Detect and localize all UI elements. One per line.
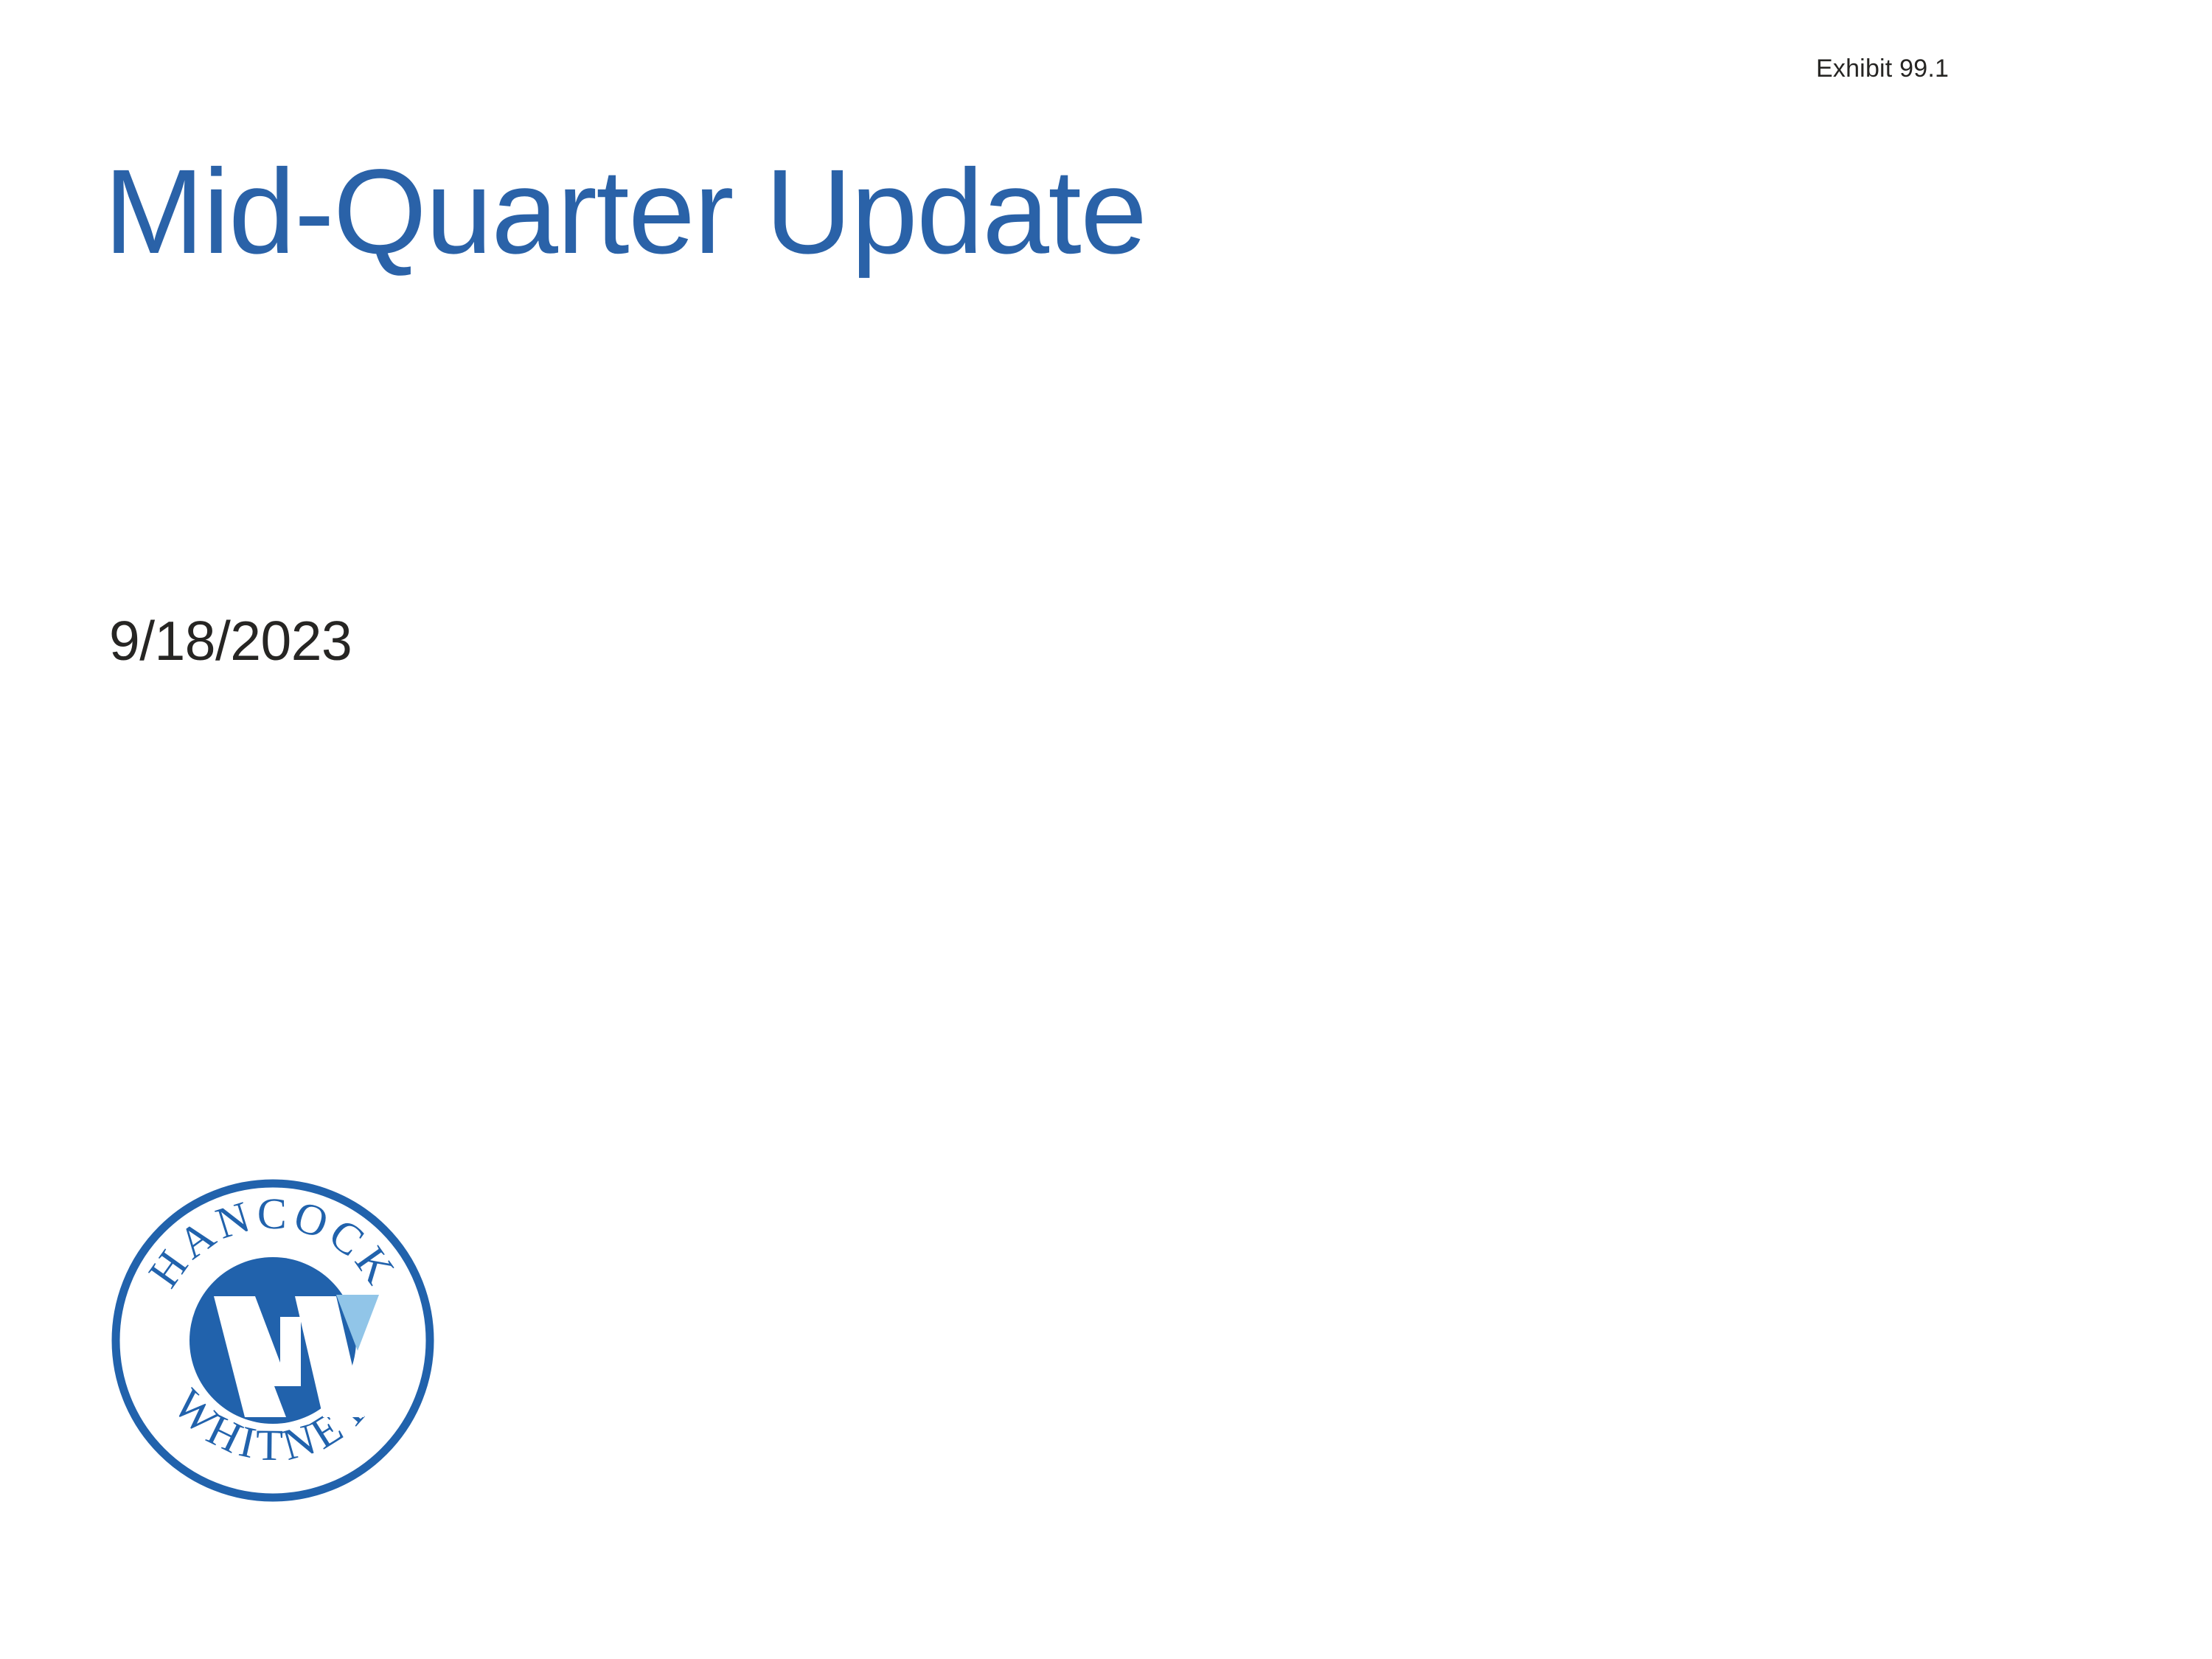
slide-date: 9/18/2023 bbox=[109, 608, 352, 674]
slide-canvas: Exhibit 99.1 Mid-Quarter Update 9/18/202… bbox=[0, 0, 2212, 1659]
logo-seal-graphic: HANCOCK WHITNEY bbox=[111, 1178, 435, 1503]
exhibit-label: Exhibit 99.1 bbox=[1816, 53, 1949, 84]
hancock-whitney-logo: HANCOCK WHITNEY bbox=[111, 1178, 435, 1503]
page-title: Mid-Quarter Update bbox=[104, 139, 1874, 284]
